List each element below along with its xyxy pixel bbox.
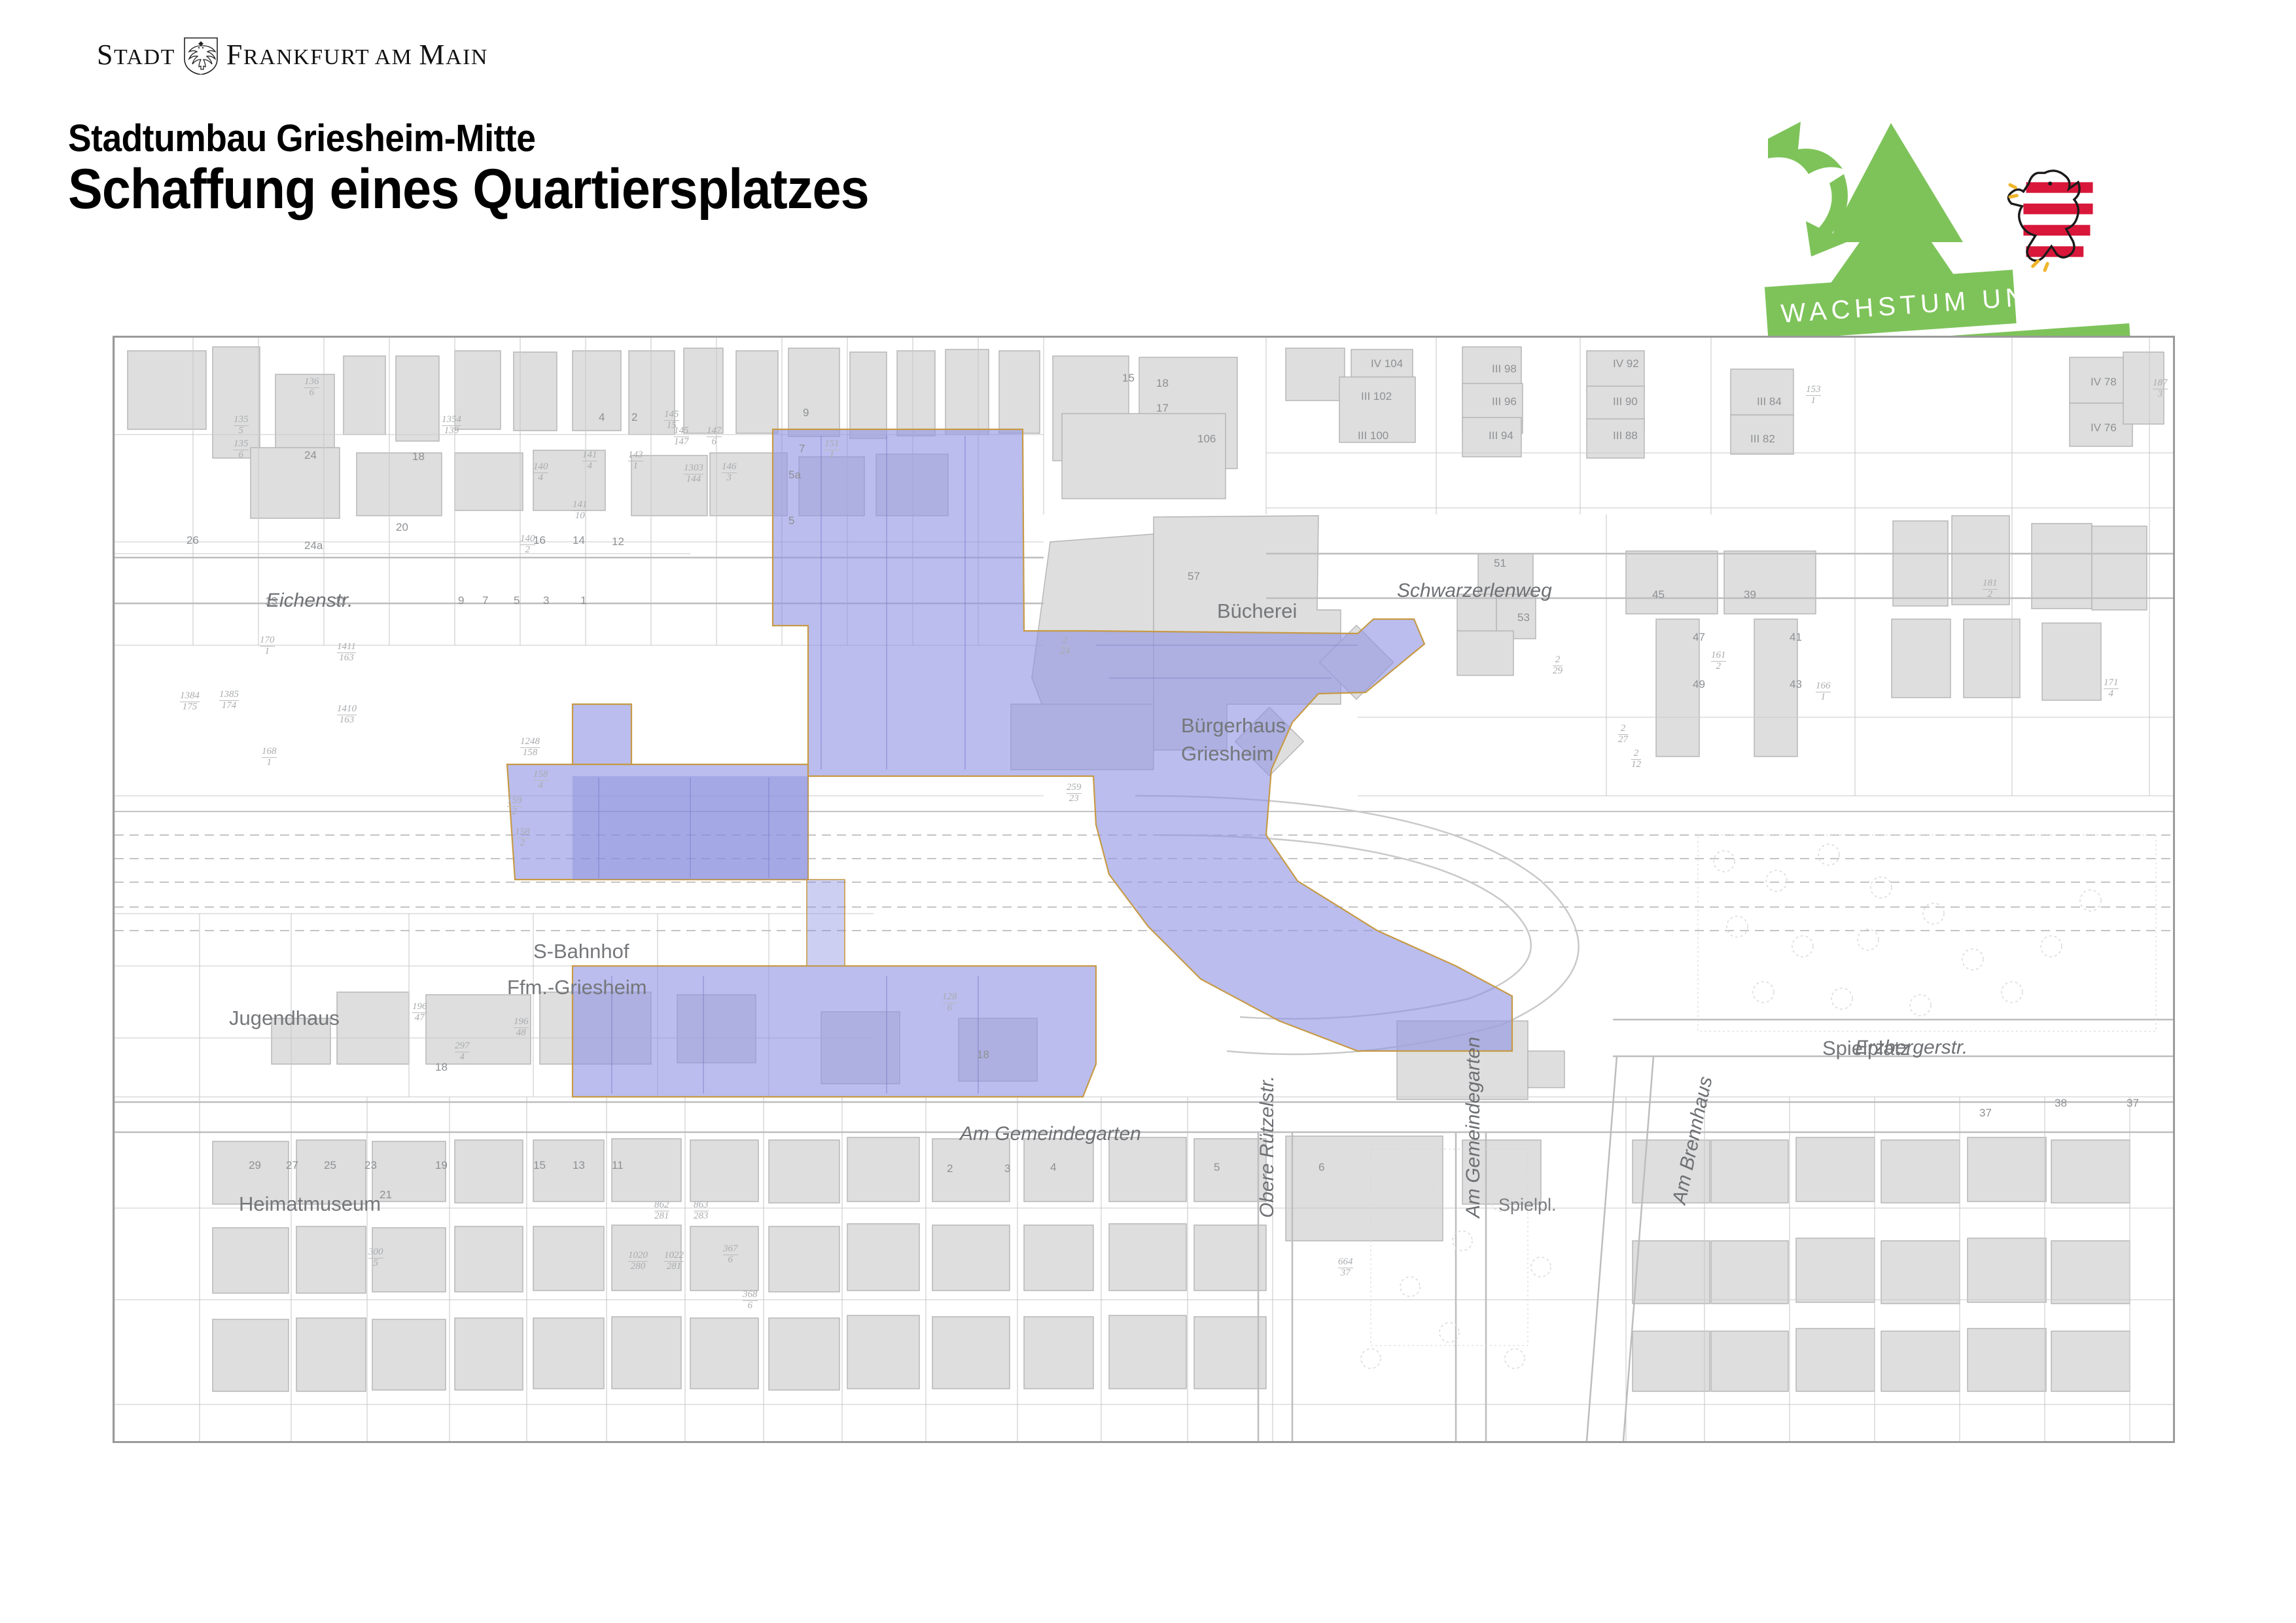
house-number: 106 [1197,433,1216,446]
parcel-number: 1022281 [664,1251,684,1272]
house-number: 5 [514,594,520,607]
parcel-number: 1303144 [684,463,703,485]
parcel-number: 3005 [368,1247,383,1269]
house-number: III 88 [1613,429,1638,442]
house-number: 11 [612,1159,624,1172]
frankfurt-eagle-icon [182,34,220,75]
parcel-number: 1612 [1711,651,1726,672]
house-number: 19 [435,1159,448,1172]
house-number: 18 [435,1061,448,1074]
parcel-number: 1356 [234,439,249,461]
house-number: III 94 [1489,429,1513,442]
parcel-number: 212 [1631,749,1641,770]
house-number: 38 [2055,1097,2067,1110]
parcel-number: 229 [1553,655,1563,677]
parcel-number: 1476 [707,426,722,448]
house-number: 41 [1790,631,1802,644]
parcel-number: 863283 [694,1200,709,1222]
house-number: III 98 [1492,363,1517,376]
parcel-number: 1248158 [520,737,540,758]
city-logo-text-left: STADT [97,38,175,71]
house-number: 26 [186,534,199,547]
parcel-number: 1355 [234,415,249,437]
house-number: 12 [612,535,624,548]
parcel-number: 1404 [533,462,548,484]
parcel-number: 19648 [514,1017,529,1039]
house-number: 13 [573,1159,585,1172]
parcel-number: 1873 [2153,378,2168,400]
house-number: 9 [803,406,809,419]
house-number: 3 [1004,1162,1010,1175]
house-number: III 82 [1750,433,1775,446]
house-number: 17 [1156,402,1169,415]
parcel-number: 1384175 [180,691,200,713]
house-number: 15 [1122,372,1135,385]
footer-logo-bar: Bundesministerium für Wohnen, Stadtentwi… [0,1476,2296,1616]
house-number: 18 [977,1048,989,1061]
parcel-number: 1511 [824,439,839,461]
parcel-number: 224 [1060,635,1070,657]
parcel-number: 1661 [1816,681,1831,703]
parcel-number: 1701 [260,635,275,657]
house-number: 29 [249,1159,261,1172]
house-number: 18 [412,450,425,463]
cadastral-map[interactable]: Eichenstr. Schwarzerlenweg Am Gemeindega… [113,336,2175,1443]
parcel-number: 1592 [507,796,522,817]
house-number: 39 [1744,588,1756,601]
parcel-number: 1402 [520,534,535,556]
parcel-number: 1385174 [219,690,239,711]
parcel-number: 3686 [743,1290,758,1311]
house-number: 45 [1652,588,1665,601]
house-number: 13 [265,595,277,608]
house-number: 6 [1318,1161,1324,1174]
parcel-number: 14110 [573,500,588,522]
house-number: 15 [533,1159,546,1172]
poster-page: STADT FRANKFURT AM MAIN Stadtumbau Gries… [0,0,2296,1623]
house-number: 7 [799,442,805,455]
house-number: 2 [947,1162,953,1175]
parcel-number: 19647 [412,1002,427,1024]
house-number: 9 [458,594,464,607]
house-number: 2 [631,411,637,424]
house-number: 18 [1156,377,1169,390]
house-number: IV 76 [2091,421,2117,435]
house-number: 37 [2127,1097,2139,1110]
parcel-number: 1463 [722,462,737,484]
house-number: 23 [364,1159,377,1172]
house-number: 4 [599,411,605,424]
parcel-number: 1411163 [337,642,356,664]
parcel-number: 1020280 [628,1251,648,1272]
house-number: 24a [304,539,323,552]
house-number: 21 [380,1188,392,1202]
parcel-number: 1414 [582,450,597,472]
parcel-number: 862281 [654,1200,669,1222]
house-number: 27 [286,1159,298,1172]
parcel-number: 1410163 [337,704,357,726]
parcel-number: 3676 [723,1244,738,1266]
city-logo: STADT FRANKFURT AM MAIN [97,34,516,75]
parcel-number: 1286 [942,992,957,1014]
house-number: 53 [1517,611,1530,624]
house-number: 43 [1790,678,1802,691]
parcel-number: 1366 [304,377,319,399]
house-number: 47 [1693,631,1705,644]
house-number: 11 [334,595,346,608]
house-number: III 84 [1757,395,1782,408]
house-number: 37 [1979,1107,1992,1120]
house-number: III 100 [1358,429,1388,442]
house-number: III 102 [1361,390,1392,403]
house-number: 25 [324,1159,336,1172]
house-number: 57 [1188,570,1200,583]
poster-subtitle: Stadtumbau Griesheim-Mitte [68,116,535,160]
house-number: 5a [788,469,801,482]
house-number: 51 [1494,557,1506,570]
map-vector-layer [115,338,2173,1441]
house-number: 5 [788,514,794,527]
house-number: 7 [482,594,488,607]
house-number: III 90 [1613,395,1638,408]
parcel-number: 2974 [455,1041,470,1063]
city-logo-text-right: FRANKFURT AM MAIN [226,38,488,71]
house-number: III 96 [1492,395,1517,408]
house-number: 20 [396,521,408,534]
parcel-number: 227 [1618,724,1628,745]
parcel-number: 1714 [2104,678,2119,700]
parcel-number: 1531 [1806,385,1821,406]
parcel-number: 1354139 [442,415,461,437]
parcel-number: 66437 [1338,1257,1353,1279]
parcel-number: 1584 [533,770,548,791]
parcel-number: 1812 [1983,579,1998,600]
house-number: 24 [304,449,317,462]
parcel-number: 1431 [628,450,643,472]
parcel-number: 1582 [515,827,530,849]
house-number: 3 [543,594,549,607]
house-number: IV 104 [1371,357,1403,370]
house-number: 4 [1050,1161,1056,1174]
house-number: 14 [573,534,585,547]
house-number: IV 78 [2091,376,2117,389]
house-number: 1 [580,594,586,607]
house-number: 49 [1693,678,1705,691]
house-number: 5 [1214,1161,1220,1174]
house-number: IV 92 [1613,357,1639,370]
parcel-number: 1681 [262,747,277,768]
page-title: Schaffung eines Quartiersplatzes [68,157,869,222]
parcel-number: 25923 [1067,783,1082,804]
parcel-number: 145147 [674,426,689,448]
